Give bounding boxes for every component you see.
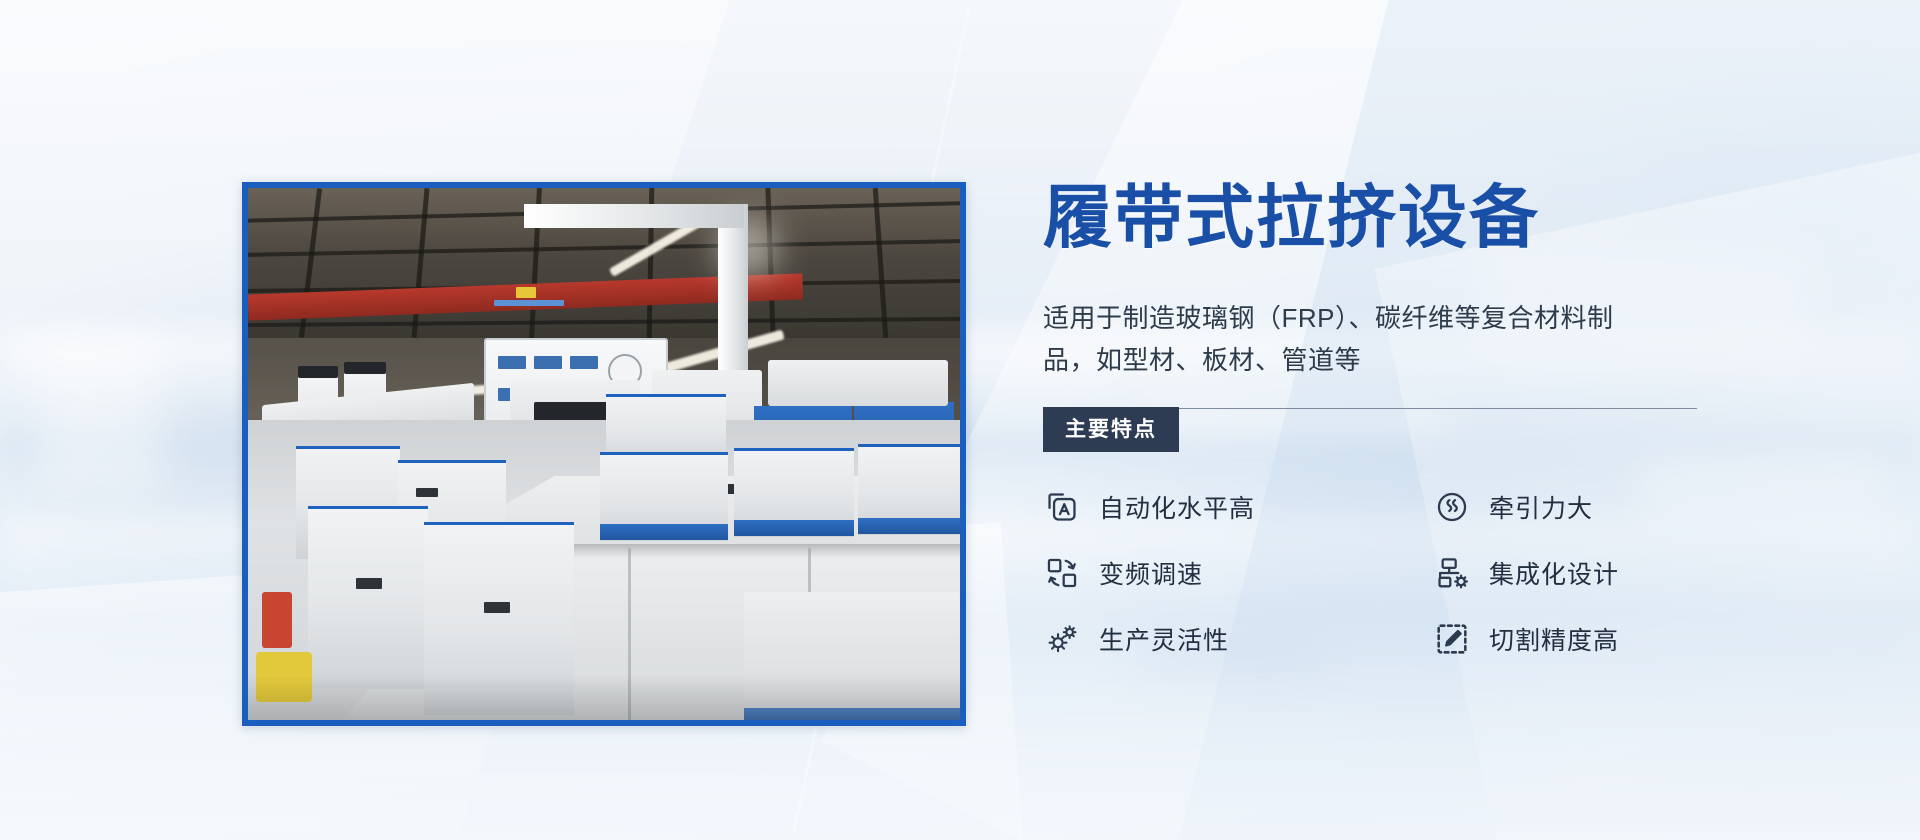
feature-label: 切割精度高 bbox=[1489, 621, 1619, 657]
status-badge: 主要特点 bbox=[1043, 407, 1179, 452]
feature-label: 生产灵活性 bbox=[1099, 621, 1229, 657]
feature-item-flexibility[interactable]: 生产灵活性 bbox=[1043, 620, 1433, 658]
precision-pen-icon bbox=[1433, 620, 1471, 658]
product-banner: 履带式拉挤设备 适用于制造玻璃钢（FRP）、碳纤维等复合材料制品，如型材、板材、… bbox=[0, 0, 1920, 840]
feature-item-integrated[interactable]: 集成化设计 bbox=[1433, 554, 1703, 592]
photo-beam-marker bbox=[516, 287, 536, 298]
feature-grid: 自动化水平高 牵引力大 bbox=[1043, 488, 1703, 658]
photo-cabinet-handle bbox=[484, 602, 510, 613]
photo-tank-cap bbox=[344, 362, 386, 374]
automation-a-icon bbox=[1043, 488, 1081, 526]
section-divider-wrap: 主要特点 bbox=[1043, 408, 1703, 454]
photo-cabinet-handle bbox=[356, 578, 382, 589]
traction-waves-icon bbox=[1433, 488, 1471, 526]
product-description: 适用于制造玻璃钢（FRP）、碳纤维等复合材料制品，如型材、板材、管道等 bbox=[1043, 297, 1653, 381]
photo-bench-base bbox=[600, 524, 728, 540]
feature-label: 牵引力大 bbox=[1489, 489, 1593, 525]
photo-cabinet bbox=[308, 506, 428, 689]
feature-label: 集成化设计 bbox=[1489, 555, 1619, 591]
feature-label: 自动化水平高 bbox=[1099, 489, 1255, 525]
feature-item-frequency[interactable]: 变频调速 bbox=[1043, 554, 1433, 592]
photo-tank-cap bbox=[298, 366, 338, 378]
gears-icon bbox=[1043, 620, 1081, 658]
feature-item-automation[interactable]: 自动化水平高 bbox=[1043, 488, 1433, 526]
photo-bench-base bbox=[858, 518, 960, 534]
banner-content: 履带式拉挤设备 适用于制造玻璃钢（FRP）、碳纤维等复合材料制品，如型材、板材、… bbox=[1043, 183, 1703, 658]
photo-cabinet-handle bbox=[416, 488, 438, 497]
photo-gantry-beam bbox=[524, 204, 744, 228]
page-title: 履带式拉挤设备 bbox=[1043, 183, 1703, 253]
photo-panel-logo bbox=[494, 300, 564, 306]
feature-label: 变频调速 bbox=[1099, 555, 1203, 591]
feature-item-traction[interactable]: 牵引力大 bbox=[1433, 488, 1703, 526]
frequency-swap-icon bbox=[1043, 554, 1081, 592]
product-photo-frame bbox=[242, 182, 966, 726]
photo-fire-extinguisher bbox=[262, 592, 292, 648]
feature-item-precision[interactable]: 切割精度高 bbox=[1433, 620, 1703, 658]
photo-bench-base bbox=[734, 520, 854, 536]
integrated-gear-icon bbox=[1433, 554, 1471, 592]
product-photo bbox=[248, 188, 960, 720]
photo-bottom-shadow bbox=[248, 674, 960, 720]
photo-machine bbox=[768, 360, 948, 406]
